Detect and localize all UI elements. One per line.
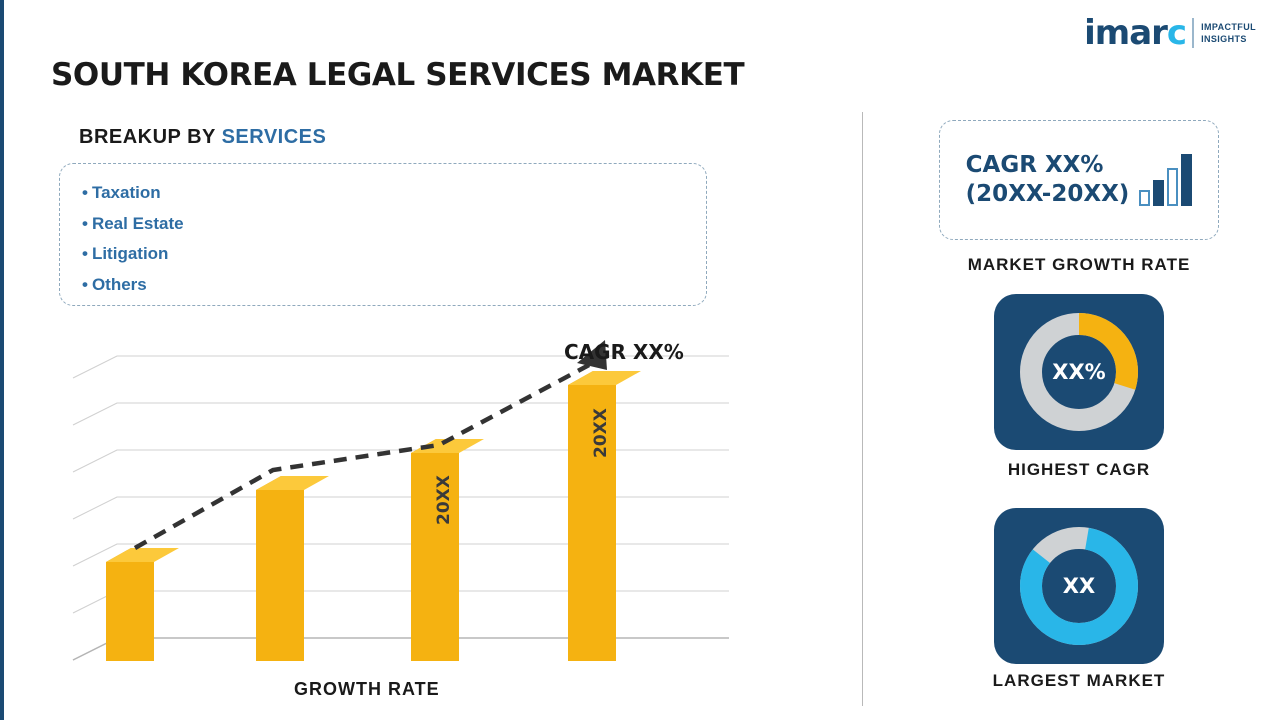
slide-root: imarc IMPACTFUL INSIGHTS SOUTH KOREA LEG…: [0, 0, 1280, 720]
services-list-box: •Taxation •Real Estate •Litigation •Othe…: [59, 163, 707, 306]
breakup-heading: BREAKUP BY SERVICES: [79, 126, 326, 149]
cagr-summary-text: CAGR XX% (20XX-20XX): [966, 151, 1130, 209]
chart-gridlines: [73, 356, 729, 660]
chart-canvas: [59, 330, 759, 705]
logo-text-c: c: [1167, 13, 1186, 53]
bullet-icon: •: [82, 214, 88, 233]
cagr-summary-line2: (20XX-20XX): [966, 180, 1130, 209]
list-item: •Litigation: [82, 239, 706, 270]
bar-1: [106, 548, 179, 661]
chart-baseline: [73, 638, 729, 660]
page-title: SOUTH KOREA LEGAL SERVICES MARKET: [51, 57, 744, 93]
logo-tagline-line1: IMPACTFUL: [1201, 21, 1256, 33]
panel-divider: [862, 112, 863, 706]
largest-market-value: XX: [1063, 574, 1095, 598]
breakup-heading-prefix: BREAKUP BY: [79, 126, 222, 148]
cagr-summary-box: CAGR XX% (20XX-20XX): [939, 120, 1219, 240]
cagr-summary-line1: CAGR XX%: [966, 151, 1130, 180]
highest-cagr-card: XX%: [994, 294, 1164, 450]
imarc-logo: imarc IMPACTFUL INSIGHTS: [1084, 14, 1256, 52]
bar-3: [411, 439, 484, 661]
list-item: •Real Estate: [82, 209, 706, 240]
bullet-icon: •: [82, 183, 88, 202]
largest-market-card: XX: [994, 508, 1164, 664]
bar-value-label-4: 20XX: [591, 408, 611, 458]
bar-chart-icon: [1139, 154, 1192, 206]
logo-wordmark: imarc: [1084, 16, 1186, 50]
breakup-heading-highlight: SERVICES: [222, 126, 327, 148]
bullet-icon: •: [82, 275, 88, 294]
logo-text-imar: imar: [1084, 13, 1167, 53]
list-item: •Taxation: [82, 178, 706, 209]
chart-x-axis-label: GROWTH RATE: [294, 679, 440, 700]
list-item: •Others: [82, 270, 706, 301]
growth-rate-bar-chart: 20XX 20XX: [59, 330, 759, 705]
chart-cagr-annotation: CAGR XX%: [564, 340, 684, 364]
highest-cagr-value: XX%: [1052, 360, 1105, 384]
logo-divider: [1192, 18, 1194, 48]
largest-market-caption: LARGEST MARKET: [939, 671, 1219, 691]
bar-2: [256, 476, 329, 661]
bar-value-label-3: 20XX: [434, 475, 454, 525]
list-item-label: Taxation: [92, 183, 161, 202]
list-item-label: Litigation: [92, 244, 168, 263]
market-growth-rate-caption: MARKET GROWTH RATE: [939, 255, 1219, 275]
chart-trendline: [135, 340, 607, 548]
bullet-icon: •: [82, 244, 88, 263]
logo-tagline-line2: INSIGHTS: [1201, 33, 1256, 45]
list-item-label: Real Estate: [92, 214, 184, 233]
highest-cagr-caption: HIGHEST CAGR: [939, 460, 1219, 480]
logo-tagline: IMPACTFUL INSIGHTS: [1201, 21, 1256, 45]
list-item-label: Others: [92, 275, 147, 294]
